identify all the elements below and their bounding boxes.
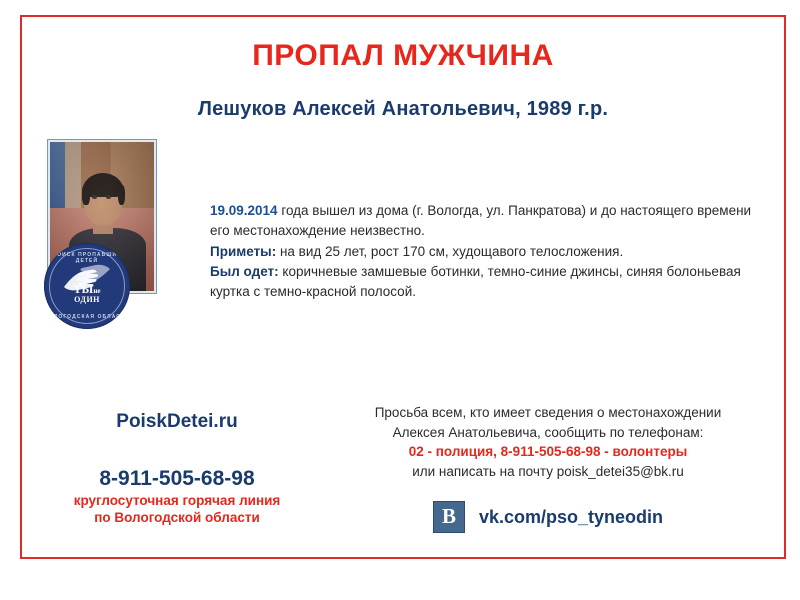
hotline-phone-number[interactable]: 8-911-505-68-98 [32, 467, 322, 491]
vk-group-link[interactable]: vk.com/pso_tyneodin [479, 507, 663, 528]
description-clothes: Был одет: коричневые замшевые ботинки, т… [210, 262, 758, 303]
appeal-email-line[interactable]: или написать на почту poisk_detei35@bk.r… [322, 462, 774, 482]
person-name-subtitle: Лешуков Алексей Анатольевич, 1989 г.р. [22, 72, 784, 121]
appeal-line-2: Алексея Анатольевича, сообщить по телефо… [322, 423, 774, 443]
hotline-caption-line2: по Вологодской области [32, 510, 322, 527]
description-disappearance: 19.09.2014 года вышел из дома (г. Вологд… [210, 201, 758, 242]
seal-center-sub: ОДИН [44, 296, 130, 304]
features-text: на вид 25 лет, рост 170 см, худощавого т… [276, 244, 623, 259]
poster-header: ПРОПАЛ МУЖЧИНА Лешуков Алексей Анатольев… [22, 17, 784, 121]
clothes-label: Был одет: [210, 264, 279, 279]
appeal-line-1: Просьба всем, кто имеет сведения о место… [322, 403, 774, 423]
website-link[interactable]: PoiskDetei.ru [32, 411, 322, 433]
features-label: Приметы: [210, 244, 276, 259]
seal-center-main: ТЫне [44, 283, 130, 296]
seal-arc-bottom-label: ВОЛОГОДСКАЯ ОБЛАСТЬ [44, 314, 130, 320]
clothes-text: коричневые замшевые ботинки, темно-синие… [210, 264, 741, 299]
appeal-text: Просьба всем, кто имеет сведения о место… [322, 403, 774, 481]
appeal-block: Просьба всем, кто имеет сведения о место… [322, 403, 774, 533]
hotline-block: PoiskDetei.ru 8-911-505-68-98 круглосуто… [32, 411, 322, 527]
seal-center-text: ТЫне ОДИН [44, 283, 130, 304]
missing-person-poster: ПРОПАЛ МУЖЧИНА Лешуков Алексей Анатольев… [20, 15, 786, 559]
hotline-caption-line1: круглосуточная горячая линия [32, 493, 322, 510]
vk-row[interactable]: B vk.com/pso_tyneodin [322, 501, 774, 533]
description-features: Приметы: на вид 25 лет, рост 170 см, худ… [210, 242, 758, 262]
organization-seal-logo: ПОИСК ПРОПАВШИХ ДЕТЕЙ ТЫне ОДИН ВОЛОГОДС… [44, 243, 130, 329]
vk-icon: B [433, 501, 465, 533]
disappearance-text: года вышел из дома (г. Вологда, ул. Панк… [210, 203, 751, 238]
page-title: ПРОПАЛ МУЖЧИНА [22, 39, 784, 72]
description-block: 19.09.2014 года вышел из дома (г. Вологд… [210, 201, 758, 302]
appeal-phone-numbers[interactable]: 02 - полиция, 8-911-505-68-98 - волонтер… [322, 442, 774, 462]
poster-middle-section: ПОИСК ПРОПАВШИХ ДЕТЕЙ ТЫне ОДИН ВОЛОГОДС… [22, 121, 784, 371]
hotline-caption: круглосуточная горячая линия по Вологодс… [32, 493, 322, 527]
disappearance-date: 19.09.2014 [210, 203, 278, 218]
poster-footer: PoiskDetei.ru 8-911-505-68-98 круглосуто… [22, 399, 784, 557]
